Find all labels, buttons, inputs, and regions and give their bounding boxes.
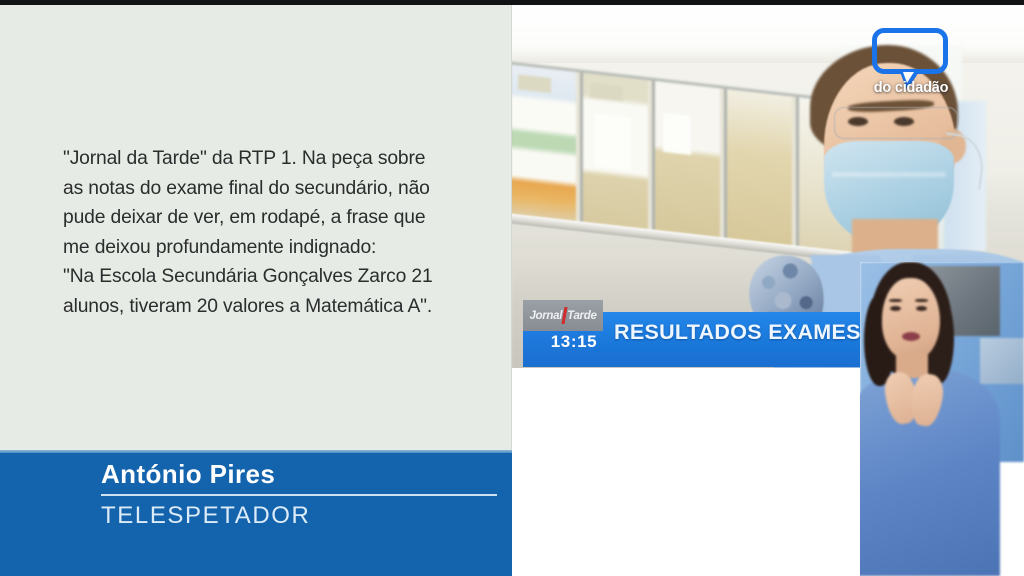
interpreter-face [882,278,940,360]
board-tag [518,74,552,93]
viewer-name: António Pires [101,459,491,490]
interpreter-mouth [902,332,920,341]
mask-ear-loop [939,132,988,189]
board-paper [595,114,631,170]
board-paper [663,112,692,155]
eyeglasses-icon [834,107,958,139]
interpreter-eyebrow-right [915,299,928,302]
interpreter-eye-left [890,306,901,311]
viewer-role: TELESPETADOR [101,502,491,530]
interpreter-backdrop-panel-2 [980,338,1024,384]
viewer-quote-text: "Jornal da Tarde" da RTP 1. Na peça sobr… [63,144,503,322]
broadcast-screen: "Jornal da Tarde" da RTP 1. Na peça sobr… [0,0,1024,576]
board-tag [590,83,624,102]
interpreter-eyebrow-left [889,299,902,302]
sign-language-interpreter-inset[interactable] [860,262,1024,576]
logo-label: do cidadão [866,80,956,96]
notice-board [580,72,648,233]
lower-third-banner: António Pires TELESPETADOR [0,450,512,576]
program-logo-word1: Jornal [529,310,562,322]
interpreter-eye-right [916,306,927,311]
viewer-quote-panel: "Jornal da Tarde" da RTP 1. Na peça sobr… [0,5,512,450]
notice-board [512,64,576,225]
channel-logo: do cidadão [866,28,956,100]
speech-bubble-icon [872,28,948,74]
notice-board [724,89,792,250]
broadcast-clock: 13:15 [534,332,614,352]
top-black-strip [0,0,1024,5]
program-logo-word2: Tarde [567,310,596,322]
program-logo: Jornal Tarde [523,300,603,331]
notice-board [652,81,720,242]
name-divider [101,494,497,496]
